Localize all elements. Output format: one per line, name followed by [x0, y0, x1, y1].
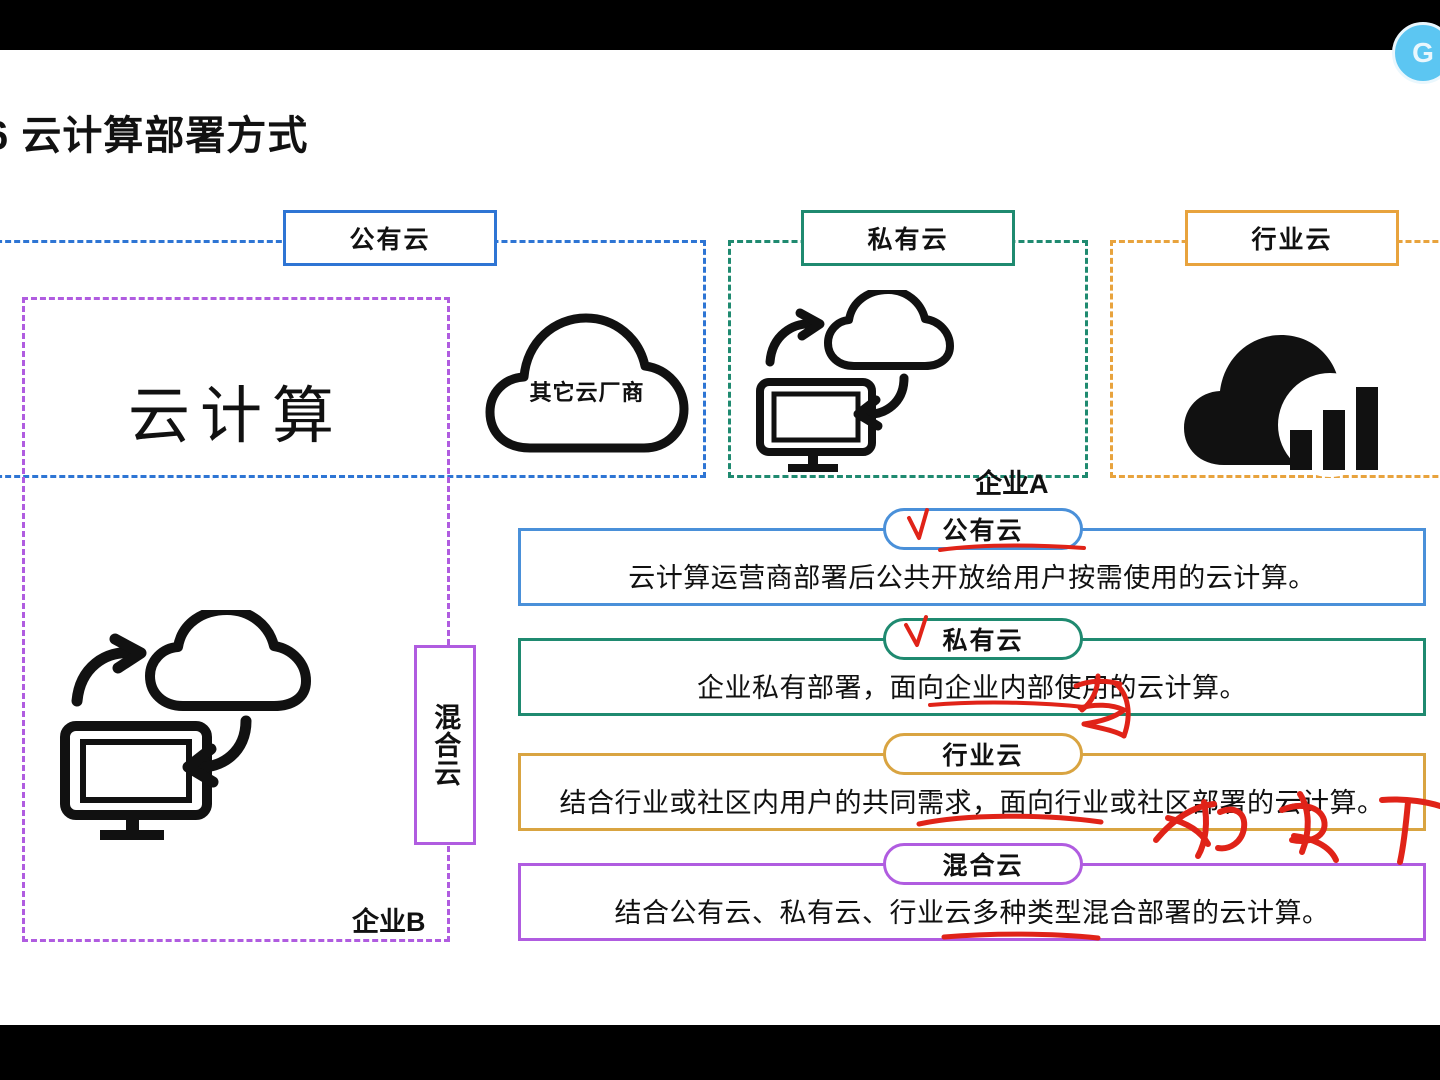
private-cloud-sync-icon	[752, 290, 992, 475]
enterprise-a-label: 企业A	[975, 462, 1049, 501]
watermark-glyph: G	[1412, 39, 1434, 67]
label-private-cloud[interactable]: 私有云	[801, 210, 1015, 266]
row-title-private[interactable]: 私有云	[883, 618, 1083, 660]
enterprise-b-label: 企业B	[352, 900, 426, 939]
letterbox-top	[0, 0, 1440, 50]
row-title-public[interactable]: 公有云	[883, 508, 1083, 550]
label-hybrid-cloud-text: 混合云	[431, 703, 460, 787]
label-industry-cloud[interactable]: 行业云	[1185, 210, 1399, 266]
row-text-public: 云计算运营商部署后公共开放给用户按需使用的云计算。	[518, 556, 1426, 595]
label-hybrid-cloud-vertical[interactable]: 混合云	[414, 645, 476, 845]
row-text-industry: 结合行业或社区内用户的共同需求，面向行业或社区部署的云计算。	[518, 781, 1426, 820]
row-title-industry[interactable]: 行业云	[883, 733, 1083, 775]
cloud-computing-heading: 云计算	[22, 365, 450, 455]
page-title: 6 云计算部署方式	[0, 103, 308, 161]
letterbox-bottom	[0, 1025, 1440, 1080]
label-public-cloud[interactable]: 公有云	[283, 210, 497, 266]
cloud-analytics-icon	[1180, 325, 1390, 480]
video-stage: 6 云计算部署方式 公有云 私有云 行业云 云计算 其它云厂商	[0, 0, 1440, 1080]
row-text-hybrid: 结合公有云、私有云、行业云多种类型混合部署的云计算。	[518, 891, 1426, 930]
other-vendor-cloud-label: 其它云厂商	[482, 375, 692, 407]
hybrid-cloud-sync-icon	[55, 610, 355, 845]
row-title-hybrid[interactable]: 混合云	[883, 843, 1083, 885]
enterprise-b-text: 企业B	[352, 907, 426, 937]
row-text-private: 企业私有部署，面向企业内部使用的云计算。	[518, 666, 1426, 705]
slide-canvas: 6 云计算部署方式 公有云 私有云 行业云 云计算 其它云厂商	[0, 50, 1440, 1025]
